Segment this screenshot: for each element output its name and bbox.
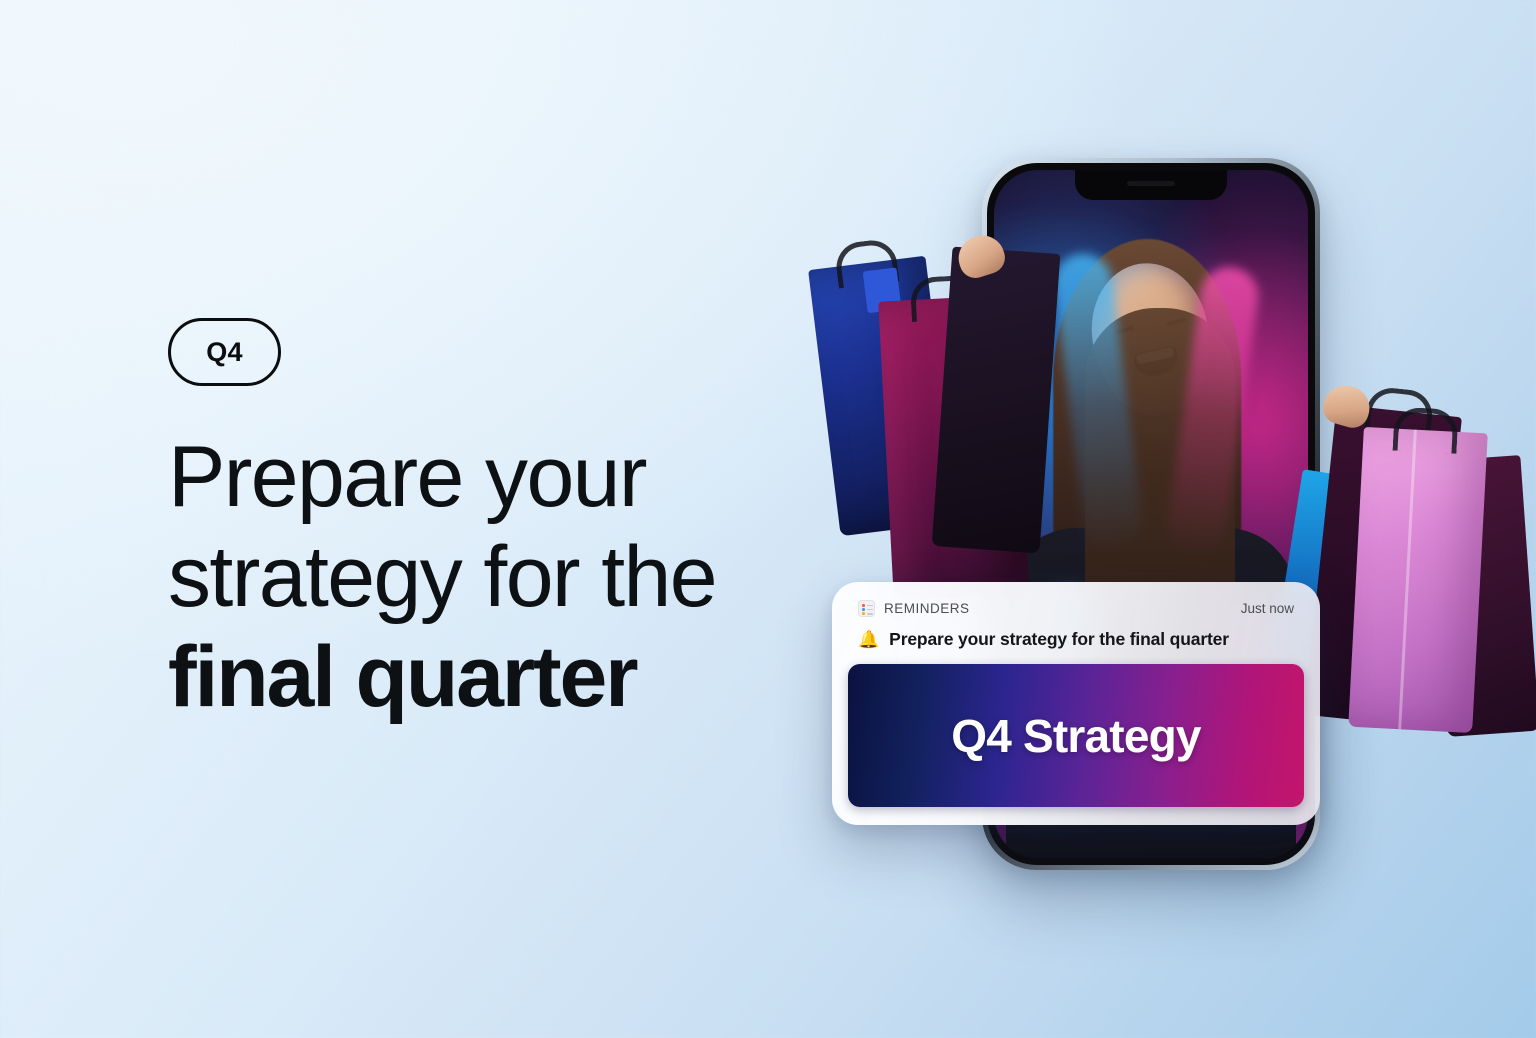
headline-line-3: final quarter xyxy=(168,629,636,725)
headline-line-2: strategy for the xyxy=(168,529,716,625)
banner-label: Q4 Strategy xyxy=(951,709,1200,763)
bell-icon: 🔔 xyxy=(858,631,879,648)
speaker-grille-icon xyxy=(1127,181,1175,186)
notification-header: REMINDERS Just now xyxy=(848,598,1304,617)
notification-timestamp: Just now xyxy=(1241,601,1294,616)
quarter-badge: Q4 xyxy=(168,318,281,386)
q4-strategy-banner[interactable]: Q4 Strategy xyxy=(848,664,1304,807)
phone-notch xyxy=(1075,170,1227,200)
bag-left-dark xyxy=(932,247,1061,554)
page-title: Prepare your strategy for the final quar… xyxy=(168,428,808,727)
bag-right-pink xyxy=(1348,427,1488,733)
headline-line-1: Prepare your xyxy=(168,429,646,525)
notification-app-name: REMINDERS xyxy=(884,601,970,616)
notification-title-row: 🔔 Prepare your strategy for the final qu… xyxy=(848,617,1304,650)
bag-crease xyxy=(1398,430,1417,730)
promo-banner-stage: Q4 Prepare your strategy for the final q… xyxy=(0,0,1536,1038)
notification-title: Prepare your strategy for the final quar… xyxy=(889,629,1229,650)
bag-handle-icon xyxy=(1393,407,1460,454)
notification-card[interactable]: REMINDERS Just now 🔔 Prepare your strate… xyxy=(832,582,1320,825)
copy-block: Q4 Prepare your strategy for the final q… xyxy=(168,318,808,727)
reminders-app-icon xyxy=(858,600,875,617)
